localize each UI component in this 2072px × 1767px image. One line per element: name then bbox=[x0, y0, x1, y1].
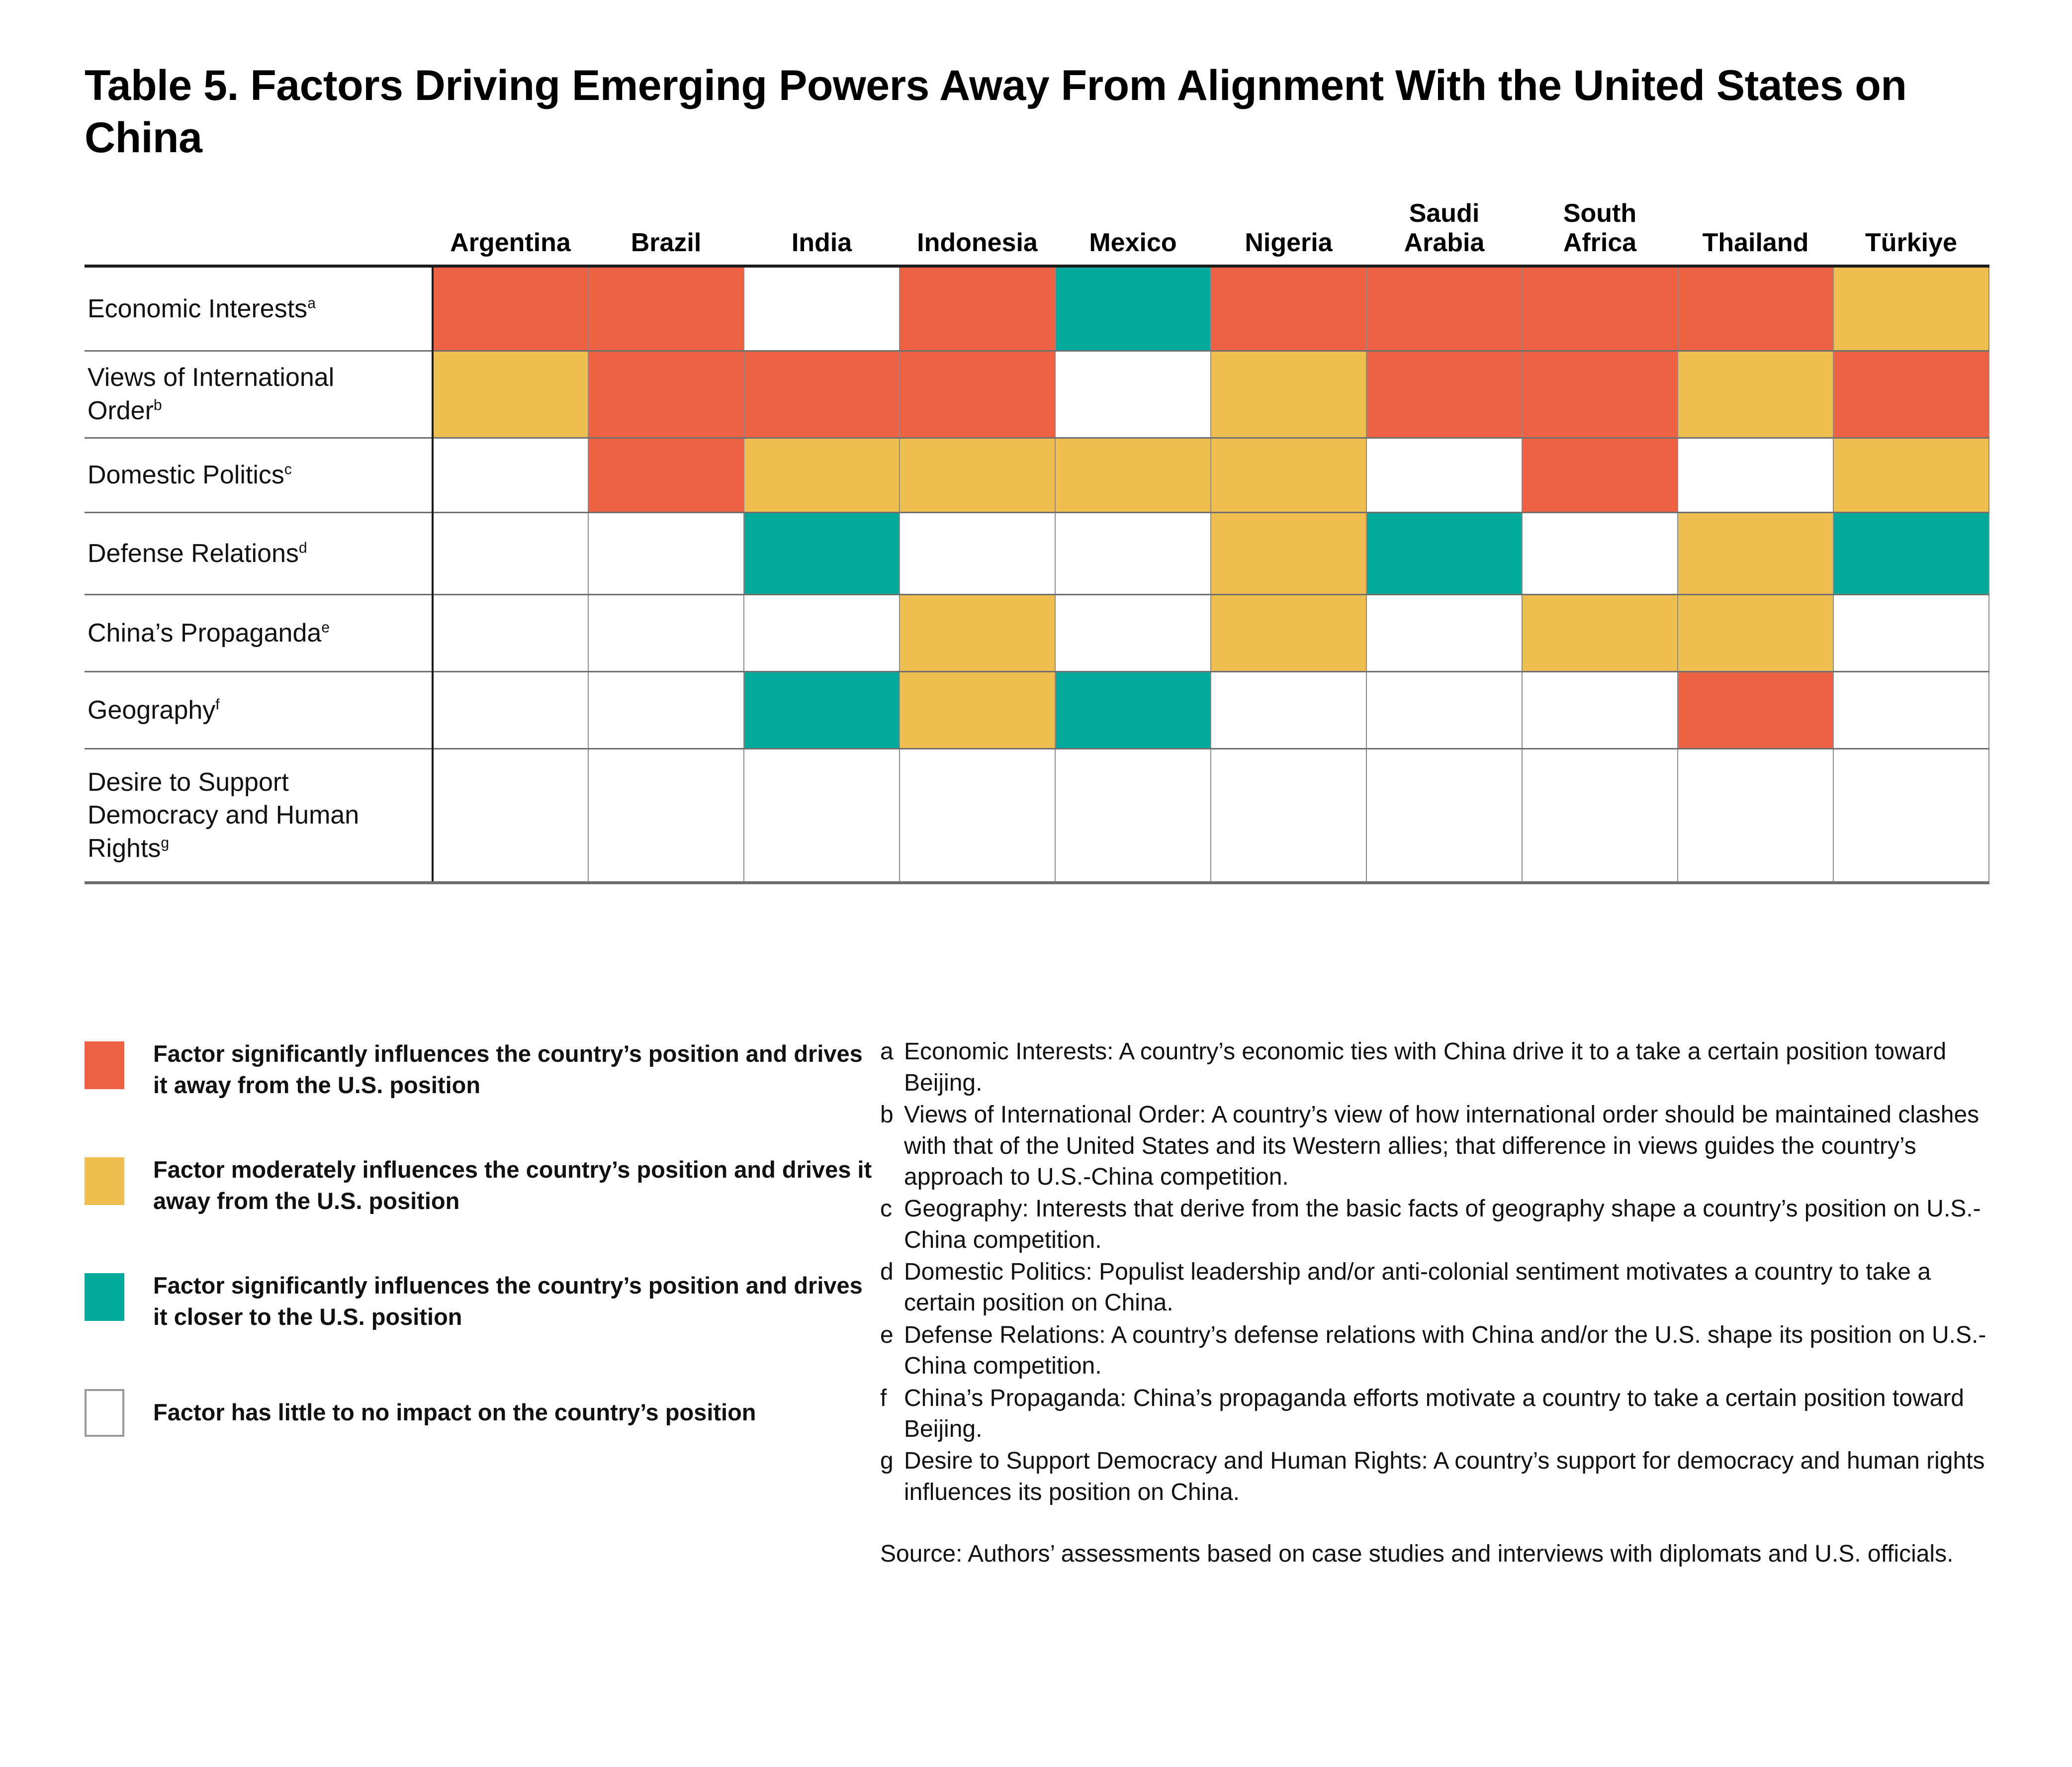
column-header-row: Argentina Brazil India Indonesia Mexico … bbox=[85, 199, 1989, 267]
footnote-marker: c bbox=[880, 1194, 904, 1256]
matrix-cell-geography-india bbox=[744, 671, 900, 748]
row-label-desire-to-support-democracy-and-human-rights: Desire to Support Democracy and Human Ri… bbox=[85, 748, 433, 883]
footnote-f: fChina’s Propaganda: China’s propaganda … bbox=[880, 1383, 1987, 1445]
legend-swatch-moderate-away bbox=[85, 1157, 124, 1205]
table-row: China’s Propagandae bbox=[85, 594, 1989, 671]
matrix-cell-domestic-politics-indonesia bbox=[900, 438, 1055, 512]
matrix-cell-geography-t-rkiye bbox=[1833, 671, 1989, 748]
row-footnote-marker: d bbox=[299, 540, 307, 556]
matrix-cell-desire-to-support-democracy-and-human-rights-mexico bbox=[1055, 748, 1211, 883]
row-label-text: Economic Interests bbox=[88, 294, 307, 323]
matrix-cell-defense-relations-saudi-arabia bbox=[1366, 512, 1522, 594]
matrix-cell-geography-saudi-arabia bbox=[1366, 671, 1522, 748]
header-corner-cell bbox=[85, 199, 433, 267]
matrix-cell-defense-relations-south-africa bbox=[1522, 512, 1678, 594]
matrix-cell-desire-to-support-democracy-and-human-rights-india bbox=[744, 748, 900, 883]
matrix-cell-domestic-politics-thailand bbox=[1678, 438, 1833, 512]
matrix-cell-economic-interests-argentina bbox=[433, 266, 588, 351]
matrix-cell-domestic-politics-india bbox=[744, 438, 900, 512]
matrix-cell-economic-interests-nigeria bbox=[1211, 266, 1366, 351]
matrix-cell-views-of-international-order-saudi-arabia bbox=[1366, 351, 1522, 438]
table-body: Economic InterestsaViews of Internationa… bbox=[85, 266, 1989, 883]
matrix-cell-domestic-politics-nigeria bbox=[1211, 438, 1366, 512]
legend-item-moderate-away: Factor moderately influences the country… bbox=[85, 1154, 875, 1216]
matrix-cell-defense-relations-t-rkiye bbox=[1833, 512, 1989, 594]
footnote-marker: f bbox=[880, 1383, 904, 1445]
legend-label: Factor significantly influences the coun… bbox=[153, 1270, 875, 1332]
table-row: Desire to Support Democracy and Human Ri… bbox=[85, 748, 1989, 883]
table-header: Argentina Brazil India Indonesia Mexico … bbox=[85, 199, 1989, 267]
footnote-marker: d bbox=[880, 1257, 904, 1319]
row-label-text: Domestic Politics bbox=[88, 461, 284, 489]
footnote-marker: g bbox=[880, 1446, 904, 1508]
matrix-cell-desire-to-support-democracy-and-human-rights-indonesia bbox=[900, 748, 1055, 883]
matrix-cell-economic-interests-thailand bbox=[1678, 266, 1833, 351]
matrix-cell-geography-south-africa bbox=[1522, 671, 1678, 748]
row-footnote-marker: c bbox=[284, 462, 292, 478]
matrix-cell-desire-to-support-democracy-and-human-rights-thailand bbox=[1678, 748, 1833, 883]
matrix-cell-defense-relations-india bbox=[744, 512, 900, 594]
footnote-b: bViews of International Order: A country… bbox=[880, 1100, 1987, 1193]
legend-label: Factor has little to no impact on the co… bbox=[153, 1386, 756, 1428]
table-page: Table 5. Factors Driving Emerging Powers… bbox=[0, 0, 2072, 1570]
legend-item-significant-closer: Factor significantly influences the coun… bbox=[85, 1270, 875, 1332]
matrix-cell-views-of-international-order-t-rkiye bbox=[1833, 351, 1989, 438]
matrix-cell-views-of-international-order-mexico bbox=[1055, 351, 1211, 438]
matrix-cell-china-s-propaganda-india bbox=[744, 594, 900, 671]
footnote-marker: e bbox=[880, 1320, 904, 1382]
row-label-text: China’s Propaganda bbox=[88, 619, 321, 648]
matrix-cell-defense-relations-thailand bbox=[1678, 512, 1833, 594]
matrix-cell-domestic-politics-saudi-arabia bbox=[1366, 438, 1522, 512]
footnote-d: dDomestic Politics: Populist leadership … bbox=[880, 1257, 1987, 1319]
matrix-cell-geography-mexico bbox=[1055, 671, 1211, 748]
matrix-cell-geography-nigeria bbox=[1211, 671, 1366, 748]
table-row: Economic Interestsa bbox=[85, 266, 1989, 351]
row-footnote-marker: a bbox=[307, 295, 316, 311]
footnotes-block: aEconomic Interests: A country’s economi… bbox=[875, 1033, 1987, 1570]
matrix-cell-economic-interests-mexico bbox=[1055, 266, 1211, 351]
matrix-cell-economic-interests-saudi-arabia bbox=[1366, 266, 1522, 351]
legend-item-none: Factor has little to no impact on the co… bbox=[85, 1386, 875, 1437]
matrix-cell-desire-to-support-democracy-and-human-rights-argentina bbox=[433, 748, 588, 883]
matrix-cell-desire-to-support-democracy-and-human-rights-nigeria bbox=[1211, 748, 1366, 883]
row-label-text: Views of International Order bbox=[88, 363, 334, 425]
matrix-cell-geography-thailand bbox=[1678, 671, 1833, 748]
matrix-cell-domestic-politics-argentina bbox=[433, 438, 588, 512]
footnote-text: Defense Relations: A country’s defense r… bbox=[904, 1320, 1987, 1382]
row-footnote-marker: g bbox=[161, 835, 169, 851]
legend: Factor significantly influences the coun… bbox=[85, 1033, 875, 1570]
row-label-economic-interests: Economic Interestsa bbox=[85, 266, 433, 351]
matrix-cell-desire-to-support-democracy-and-human-rights-t-rkiye bbox=[1833, 748, 1989, 883]
matrix-cell-defense-relations-brazil bbox=[588, 512, 744, 594]
footnote-e: eDefense Relations: A country’s defense … bbox=[880, 1320, 1987, 1382]
footnote-marker: b bbox=[880, 1100, 904, 1193]
footnote-text: Economic Interests: A country’s economic… bbox=[904, 1036, 1987, 1099]
matrix-cell-desire-to-support-democracy-and-human-rights-brazil bbox=[588, 748, 744, 883]
column-header-mexico: Mexico bbox=[1055, 199, 1211, 267]
matrix-cell-domestic-politics-mexico bbox=[1055, 438, 1211, 512]
matrix-cell-economic-interests-t-rkiye bbox=[1833, 266, 1989, 351]
legend-swatch-significant-away bbox=[85, 1041, 124, 1089]
matrix-cell-defense-relations-mexico bbox=[1055, 512, 1211, 594]
matrix-cell-desire-to-support-democracy-and-human-rights-south-africa bbox=[1522, 748, 1678, 883]
row-label-defense-relations: Defense Relationsd bbox=[85, 512, 433, 594]
matrix-cell-domestic-politics-south-africa bbox=[1522, 438, 1678, 512]
factors-matrix-table: Argentina Brazil India Indonesia Mexico … bbox=[85, 199, 1989, 885]
matrix-cell-geography-indonesia bbox=[900, 671, 1055, 748]
row-label-text: Desire to Support Democracy and Human Ri… bbox=[88, 768, 359, 863]
matrix-cell-desire-to-support-democracy-and-human-rights-saudi-arabia bbox=[1366, 748, 1522, 883]
lower-block: Factor significantly influences the coun… bbox=[85, 1033, 1987, 1570]
column-header-south-africa: South Africa bbox=[1522, 199, 1678, 267]
matrix-cell-economic-interests-indonesia bbox=[900, 266, 1055, 351]
matrix-cell-china-s-propaganda-nigeria bbox=[1211, 594, 1366, 671]
matrix-cell-views-of-international-order-south-africa bbox=[1522, 351, 1678, 438]
matrix-cell-domestic-politics-brazil bbox=[588, 438, 744, 512]
column-header-indonesia: Indonesia bbox=[900, 199, 1055, 267]
footnote-text: Views of International Order: A country’… bbox=[904, 1100, 1987, 1193]
column-header-turkiye: Türkiye bbox=[1833, 199, 1989, 267]
matrix-cell-defense-relations-nigeria bbox=[1211, 512, 1366, 594]
matrix-cell-china-s-propaganda-brazil bbox=[588, 594, 744, 671]
legend-item-significant-away: Factor significantly influences the coun… bbox=[85, 1038, 875, 1101]
matrix-cell-china-s-propaganda-saudi-arabia bbox=[1366, 594, 1522, 671]
row-label-views-of-international-order: Views of International Orderb bbox=[85, 351, 433, 438]
matrix-cell-economic-interests-south-africa bbox=[1522, 266, 1678, 351]
legend-swatch-significant-closer bbox=[85, 1273, 124, 1321]
matrix-cell-china-s-propaganda-t-rkiye bbox=[1833, 594, 1989, 671]
row-label-domestic-politics: Domestic Politicsc bbox=[85, 438, 433, 512]
column-header-thailand: Thailand bbox=[1678, 199, 1833, 267]
matrix-cell-china-s-propaganda-south-africa bbox=[1522, 594, 1678, 671]
column-header-india: India bbox=[744, 199, 900, 267]
row-label-geography: Geographyf bbox=[85, 671, 433, 748]
footnote-text: Geography: Interests that derive from th… bbox=[904, 1194, 1987, 1256]
matrix-cell-defense-relations-indonesia bbox=[900, 512, 1055, 594]
matrix-cell-china-s-propaganda-indonesia bbox=[900, 594, 1055, 671]
footnote-marker: a bbox=[880, 1036, 904, 1099]
matrix-cell-domestic-politics-t-rkiye bbox=[1833, 438, 1989, 512]
row-footnote-marker: b bbox=[154, 397, 162, 414]
footnote-text: Desire to Support Democracy and Human Ri… bbox=[904, 1446, 1987, 1508]
column-header-argentina: Argentina bbox=[433, 199, 588, 267]
footnote-c: cGeography: Interests that derive from t… bbox=[880, 1194, 1987, 1256]
legend-swatch-none bbox=[85, 1389, 124, 1437]
matrix-cell-china-s-propaganda-thailand bbox=[1678, 594, 1833, 671]
matrix-cell-geography-brazil bbox=[588, 671, 744, 748]
matrix-cell-views-of-international-order-thailand bbox=[1678, 351, 1833, 438]
column-header-saudi-arabia: Saudi Arabia bbox=[1366, 199, 1522, 267]
footnotes-list: aEconomic Interests: A country’s economi… bbox=[880, 1036, 1987, 1508]
legend-label: Factor moderately influences the country… bbox=[153, 1154, 875, 1216]
matrix-cell-defense-relations-argentina bbox=[433, 512, 588, 594]
matrix-cell-china-s-propaganda-argentina bbox=[433, 594, 588, 671]
legend-label: Factor significantly influences the coun… bbox=[153, 1038, 875, 1101]
matrix-cell-views-of-international-order-nigeria bbox=[1211, 351, 1366, 438]
matrix-cell-views-of-international-order-argentina bbox=[433, 351, 588, 438]
footnote-g: gDesire to Support Democracy and Human R… bbox=[880, 1446, 1987, 1508]
row-label-text: Defense Relations bbox=[88, 539, 299, 568]
row-label-china-s-propaganda: China’s Propagandae bbox=[85, 594, 433, 671]
footnote-a: aEconomic Interests: A country’s economi… bbox=[880, 1036, 1987, 1099]
table-row: Views of International Orderb bbox=[85, 351, 1989, 438]
footnote-text: Domestic Politics: Populist leadership a… bbox=[904, 1257, 1987, 1319]
column-header-nigeria: Nigeria bbox=[1211, 199, 1366, 267]
table-row: Geographyf bbox=[85, 671, 1989, 748]
source-line: Source: Authors’ assessments based on ca… bbox=[880, 1539, 1987, 1570]
matrix-cell-economic-interests-brazil bbox=[588, 266, 744, 351]
footnote-text: China’s Propaganda: China’s propaganda e… bbox=[904, 1383, 1987, 1445]
table-row: Defense Relationsd bbox=[85, 512, 1989, 594]
matrix-cell-views-of-international-order-indonesia bbox=[900, 351, 1055, 438]
row-footnote-marker: f bbox=[215, 696, 219, 713]
matrix-cell-geography-argentina bbox=[433, 671, 588, 748]
row-label-text: Geography bbox=[88, 696, 215, 725]
table-row: Domestic Politicsc bbox=[85, 438, 1989, 512]
matrix-cell-china-s-propaganda-mexico bbox=[1055, 594, 1211, 671]
matrix-cell-economic-interests-india bbox=[744, 266, 900, 351]
matrix-cell-views-of-international-order-brazil bbox=[588, 351, 744, 438]
matrix-cell-views-of-international-order-india bbox=[744, 351, 900, 438]
column-header-brazil: Brazil bbox=[588, 199, 744, 267]
page-title: Table 5. Factors Driving Emerging Powers… bbox=[85, 60, 1949, 164]
row-footnote-marker: e bbox=[321, 619, 330, 636]
